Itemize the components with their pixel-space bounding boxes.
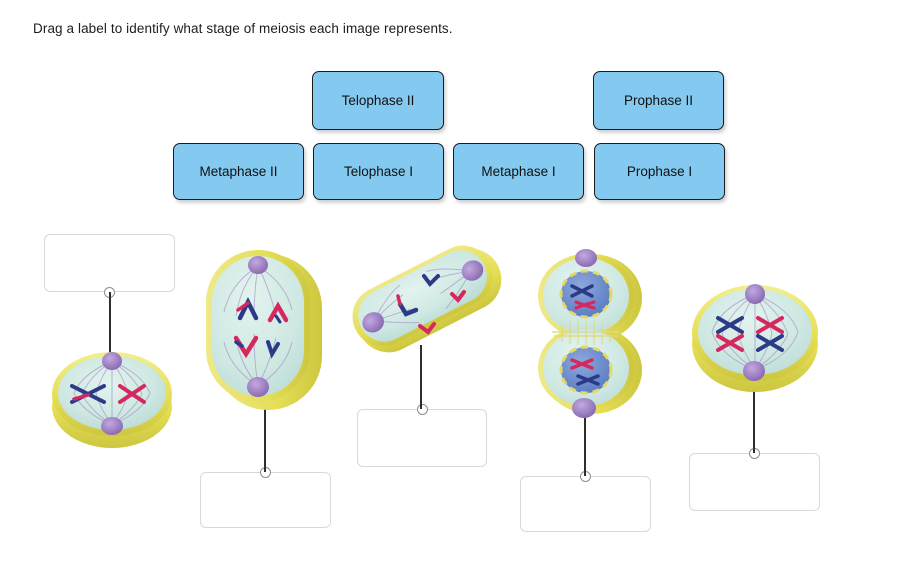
drop-zone-2[interactable] — [200, 472, 331, 528]
drag-label-text: Prophase I — [627, 164, 692, 179]
drag-label-metaphase-2[interactable]: Metaphase II — [173, 143, 304, 200]
drag-label-text: Telophase I — [344, 164, 413, 179]
drag-label-text: Telophase II — [342, 93, 415, 108]
leader-line-5 — [753, 390, 755, 453]
cell-diagram-5 — [684, 278, 826, 394]
drag-label-text: Prophase II — [624, 93, 693, 108]
drag-label-telophase-1[interactable]: Telophase I — [313, 143, 444, 200]
page-instruction: Drag a label to identify what stage of m… — [33, 20, 453, 37]
drag-label-prophase-2[interactable]: Prophase II — [593, 71, 724, 130]
cell-diagram-4 — [522, 246, 650, 418]
cell-diagram-2 — [198, 246, 332, 414]
drop-zone-5[interactable] — [689, 453, 820, 511]
drop-zone-1[interactable] — [44, 234, 175, 292]
drop-zone-4[interactable] — [520, 476, 651, 532]
drag-label-telophase-2[interactable]: Telophase II — [312, 71, 444, 130]
drag-label-text: Metaphase I — [481, 164, 555, 179]
connector-knob-3 — [417, 404, 428, 415]
cell-diagram-3 — [348, 248, 508, 352]
leader-line-2 — [264, 408, 266, 472]
leader-line-3 — [420, 345, 422, 409]
drag-label-prophase-1[interactable]: Prophase I — [594, 143, 725, 200]
leader-line-4 — [584, 414, 586, 476]
drag-label-text: Metaphase II — [199, 164, 277, 179]
drag-label-metaphase-1[interactable]: Metaphase I — [453, 143, 584, 200]
cell-diagram-1 — [44, 344, 180, 452]
drop-zone-3[interactable] — [357, 409, 487, 467]
